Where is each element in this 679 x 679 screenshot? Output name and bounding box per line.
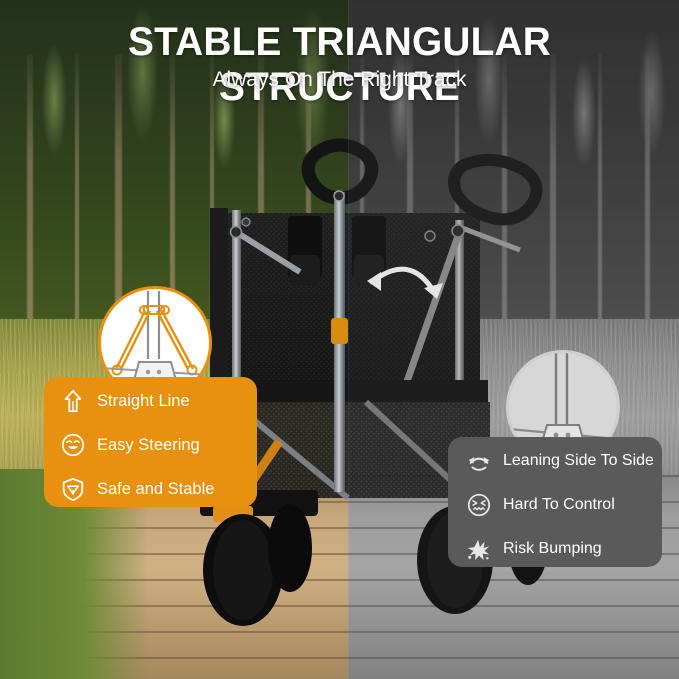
shield-check-icon <box>58 474 88 504</box>
benefit-label: Easy Steering <box>97 436 200 455</box>
drawback-row: Risk Bumping <box>464 534 662 564</box>
drawback-row: Hard To Control <box>464 490 662 520</box>
dizzy-face-icon <box>464 490 494 520</box>
rocking-arc-icon <box>464 446 494 476</box>
drawbacks-panel: Leaning Side To Side Hard To Control <box>448 437 662 567</box>
smiley-face-icon <box>58 430 88 460</box>
drawback-row: Leaning Side To Side <box>464 446 662 476</box>
benefit-row: Safe and Stable <box>58 474 257 504</box>
up-arrow-icon <box>58 386 88 416</box>
drawback-label: Risk Bumping <box>503 540 602 558</box>
drawback-label: Hard To Control <box>503 496 615 514</box>
drawback-label: Leaning Side To Side <box>503 452 654 470</box>
benefit-row: Straight Line <box>58 386 257 416</box>
benefits-panel: Straight Line Easy Steering <box>44 377 257 507</box>
benefit-label: Safe and Stable <box>97 480 214 499</box>
page-title: STABLE TRIANGULAR STRUCTURE <box>10 20 669 110</box>
product-feature-banner: STABLE TRIANGULAR STRUCTURE Always On Th… <box>0 0 679 679</box>
page-subtitle: Always On The Right Track <box>0 68 679 92</box>
impact-burst-icon <box>464 534 494 564</box>
benefit-label: Straight Line <box>97 392 190 411</box>
benefit-row: Easy Steering <box>58 430 257 460</box>
